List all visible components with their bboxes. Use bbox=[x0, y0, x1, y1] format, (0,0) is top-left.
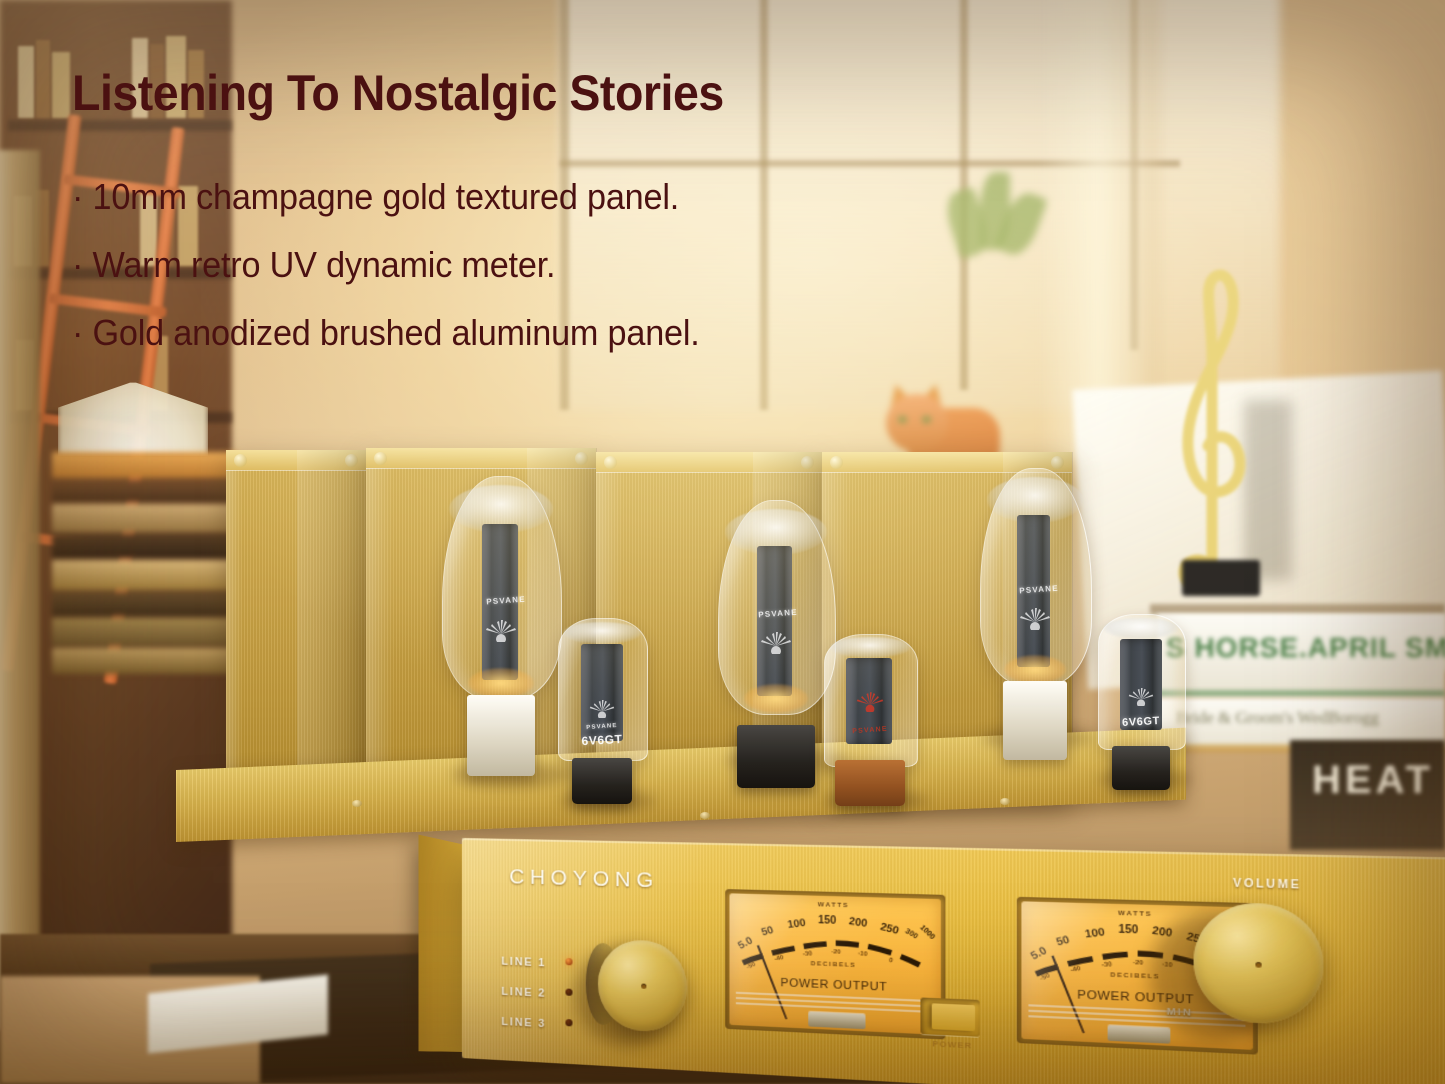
chassis-screw bbox=[700, 812, 710, 819]
power-switch[interactable] bbox=[920, 997, 979, 1036]
left-vu-meter: WATTS 5.0 50 100 150 200 250 300 1000 bbox=[725, 889, 945, 1039]
driver-tube-left: PSVANE 6V6GT bbox=[558, 618, 646, 804]
tube-type-label: 6V6GT bbox=[581, 732, 623, 748]
psvane-sunburst-icon bbox=[484, 620, 518, 642]
feature-list: · 10mm champagne gold textured panel. · … bbox=[72, 176, 733, 380]
volume-label: VOLUME bbox=[1233, 878, 1302, 892]
line-2-led bbox=[565, 988, 572, 995]
psvane-sunburst-icon-red bbox=[855, 692, 885, 712]
meter-db-tick: -30 bbox=[1101, 962, 1112, 970]
driver-tube-right: 6V6GT bbox=[1098, 614, 1184, 790]
psvane-sunburst-icon bbox=[1018, 608, 1052, 630]
transformer-cover-left bbox=[226, 450, 366, 790]
power-tube-right: PSVANE bbox=[980, 468, 1090, 760]
line-1-led bbox=[565, 958, 572, 965]
rectifier-tube-center: PSVANE bbox=[824, 634, 916, 806]
power-tube-left: PSVANE bbox=[442, 476, 560, 776]
amplifier-front-panel: CHOYONG WATTS 5.0 50 100 150 200 250 300… bbox=[462, 838, 1445, 1084]
line-3-row: LINE 3 bbox=[501, 1012, 546, 1045]
meter-pivot bbox=[808, 1012, 865, 1030]
power-tube-center: PSVANE bbox=[718, 500, 834, 788]
line-2-label: LINE 2 bbox=[501, 986, 546, 1000]
tube-type-label: 6V6GT bbox=[1122, 715, 1160, 729]
power-label: POWER bbox=[918, 1038, 986, 1051]
chassis-screw bbox=[1000, 798, 1010, 805]
meter-db-tick: -20 bbox=[1133, 960, 1143, 967]
meter-db-tick: -30 bbox=[802, 951, 812, 958]
tube-amplifier: PSVANE PSVANE 6V6GT bbox=[0, 0, 1445, 1084]
input-selector-labels: LINE 1 LINE 2 LINE 3 bbox=[501, 951, 546, 1044]
line-2-row: LINE 2 bbox=[501, 982, 546, 1014]
page-title: Listening To Nostalgic Stories bbox=[72, 64, 724, 122]
line-3-led bbox=[565, 1019, 572, 1026]
feature-item: · Gold anodized brushed aluminum panel. bbox=[72, 312, 700, 354]
meter-db-tick: -10 bbox=[857, 951, 867, 959]
chassis-screw bbox=[352, 800, 362, 807]
line-1-label: LINE 1 bbox=[501, 956, 546, 970]
brand-logo: CHOYONG bbox=[509, 865, 659, 893]
psvane-sunburst-icon bbox=[759, 632, 793, 654]
line-1-row: LINE 1 bbox=[501, 951, 546, 983]
feature-item: · Warm retro UV dynamic meter. bbox=[72, 244, 700, 286]
product-marketing-image: S HORSE.APRIL SMIYE Bride & Groom's WedB… bbox=[0, 0, 1445, 1084]
psvane-sunburst-icon bbox=[588, 700, 616, 718]
line-3-label: LINE 3 bbox=[501, 1016, 546, 1030]
meter-pivot bbox=[1108, 1025, 1171, 1043]
feature-item: · 10mm champagne gold textured panel. bbox=[72, 176, 700, 218]
meter-db-tick: -20 bbox=[831, 949, 841, 956]
psvane-sunburst-icon bbox=[1127, 688, 1155, 706]
